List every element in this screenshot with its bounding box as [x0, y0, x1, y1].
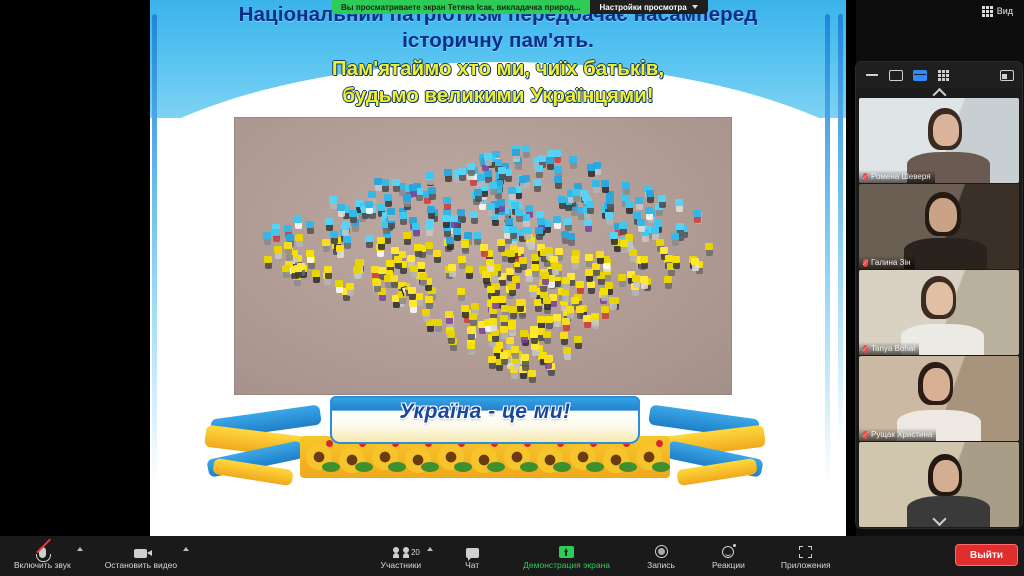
video-options-chevron-icon[interactable]: [183, 547, 189, 551]
participant-body: [907, 496, 990, 527]
people-icon: 20: [393, 542, 409, 558]
video-tile[interactable]: Ромена Шеверя: [859, 98, 1019, 183]
view-button-label: Вид: [997, 6, 1013, 16]
participant-name-label: Рущак Христина: [859, 428, 936, 441]
participants-count: 20: [411, 548, 420, 557]
mic-muted-icon: [39, 542, 46, 558]
leave-meeting-label: Выйти: [970, 550, 1003, 561]
mic-muted-icon: [863, 259, 868, 267]
participant-video-strip: Ромена ШеверяГалина ЗінTanya BohalРущак …: [856, 62, 1022, 528]
participant-name-text: Галина Зін: [871, 258, 911, 267]
slide-subtitle-line-1: Пам'ятаймо хто ми, чиїх батьків,: [168, 55, 828, 82]
popout-icon[interactable]: [1000, 70, 1014, 81]
letterbox-right: [846, 0, 856, 540]
scroll-down-chevron-icon[interactable]: [934, 514, 945, 525]
gallery-view-icon[interactable]: [936, 69, 951, 82]
view-options-label: Настройки просмотра: [600, 3, 687, 12]
chevron-down-icon: [692, 5, 698, 9]
share-status-text: Вы просматриваете экран Тетяна Ісак, вик…: [332, 0, 590, 14]
stop-video-button[interactable]: Остановить видео: [95, 536, 187, 576]
participant-name-label: Tanya Bohal: [859, 342, 919, 355]
participant-face: [923, 368, 950, 401]
view-options-button[interactable]: Настройки просмотра: [590, 0, 708, 14]
record-label: Запись: [647, 560, 675, 570]
zoom-meeting-window: Національний патріотизм передбачає насам…: [0, 0, 1024, 576]
participants-label: Участники: [381, 560, 422, 570]
participant-name-text: Рущак Христина: [871, 430, 932, 439]
mic-muted-icon: [863, 345, 868, 353]
slide-ribbon-banner: Україна - це ми!: [205, 396, 765, 480]
slide-title-line-2: історичну пам'ять.: [168, 28, 828, 54]
minimize-icon[interactable]: [864, 69, 879, 82]
apps-icon: [799, 542, 812, 558]
shared-screen-area[interactable]: Національний патріотизм передбачає насам…: [0, 0, 856, 540]
participant-name-text: Tanya Bohal: [871, 344, 915, 353]
record-button[interactable]: Запись: [636, 536, 686, 576]
apps-label: Приложения: [781, 560, 831, 570]
share-screen-icon: [559, 542, 574, 558]
slide-subtitle: Пам'ятаймо хто ми, чиїх батьків, будьмо …: [168, 55, 828, 109]
video-tile[interactable]: Tanya Bohal: [859, 270, 1019, 355]
strip-view-icon[interactable]: [912, 69, 927, 82]
letterbox-left: [0, 0, 150, 540]
presentation-slide: Національний патріотизм передбачає насам…: [150, 0, 846, 540]
participants-button[interactable]: 20 Участники: [371, 536, 432, 576]
reactions-button[interactable]: Реакции: [702, 536, 755, 576]
unmute-audio-button[interactable]: Включить звук: [0, 536, 81, 576]
video-tile[interactable]: Рущак Христина: [859, 356, 1019, 441]
leave-meeting-button[interactable]: Выйти: [955, 544, 1018, 566]
slide-subtitle-line-2: будьмо великими Українцями!: [168, 82, 828, 109]
slide-decor-bar-right-outer: [838, 14, 843, 444]
video-panel-toolbar: [856, 62, 1022, 88]
chat-label: Чат: [465, 560, 479, 570]
participant-name-label: Галина Зін: [859, 256, 915, 269]
participant-name-label: Ромена Шеверя: [859, 170, 935, 183]
scroll-up-chevron-icon[interactable]: [934, 88, 945, 99]
stop-video-label: Остановить видео: [105, 560, 177, 570]
view-button[interactable]: Вид: [977, 3, 1018, 19]
mic-muted-icon: [863, 173, 868, 181]
participant-name-text: Ромена Шеверя: [871, 172, 931, 181]
participant-face: [933, 460, 959, 492]
participant-face: [933, 114, 959, 146]
participant-face: [926, 282, 953, 315]
participants-options-chevron-icon[interactable]: [427, 547, 433, 551]
speaker-view-icon[interactable]: [888, 69, 903, 82]
chat-button[interactable]: Чат: [447, 536, 497, 576]
participant-body: [904, 238, 987, 269]
grid-icon: [982, 6, 993, 17]
share-screen-button[interactable]: Демонстрация экрана: [513, 536, 620, 576]
reactions-icon: [722, 542, 734, 558]
slide-photo-ukraine-crowd: [235, 118, 731, 394]
record-icon: [655, 542, 668, 558]
chat-icon: [466, 542, 479, 558]
screen-share-banner: Вы просматриваете экран Тетяна Ісак, вик…: [332, 0, 708, 14]
apps-button[interactable]: Приложения: [771, 536, 841, 576]
reactions-label: Реакции: [712, 560, 745, 570]
video-tile[interactable]: Галина Зін: [859, 184, 1019, 269]
share-screen-label: Демонстрация экрана: [523, 560, 610, 570]
mic-muted-icon: [863, 431, 868, 439]
banner-text: Україна - це ми!: [330, 400, 640, 424]
audio-options-chevron-icon[interactable]: [77, 547, 83, 551]
slide-decor-bar-left: [152, 14, 157, 484]
video-tiles-list: Ромена ШеверяГалина ЗінTanya BohalРущак …: [856, 98, 1022, 522]
camera-icon: [134, 542, 147, 558]
meeting-controls-toolbar: Включить звук Остановить видео 20 Участн…: [0, 536, 1024, 576]
participant-face: [929, 198, 957, 232]
